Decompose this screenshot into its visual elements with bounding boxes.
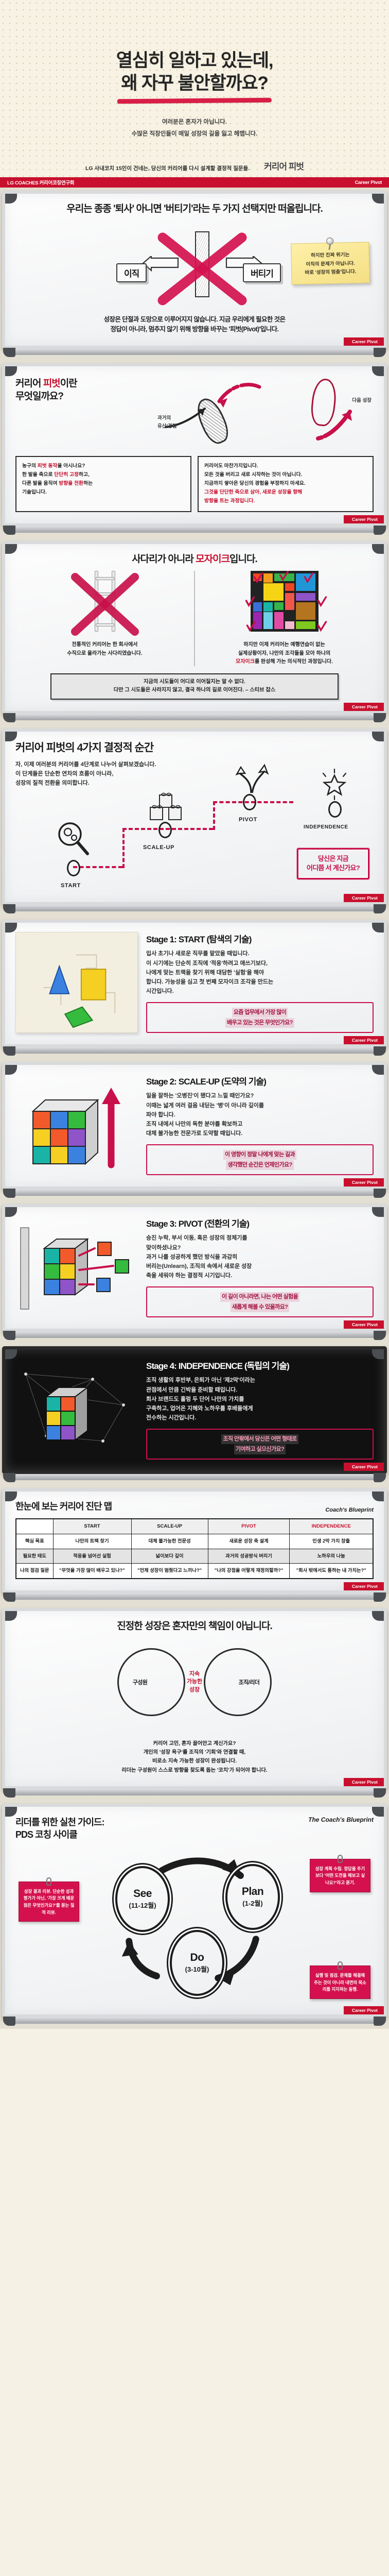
label-past-line1: 과거의 <box>157 414 171 421</box>
ring-do-label: Do <box>190 1952 204 1964</box>
stage3-line5: 축을 세워야 하는 결정적 시기입니다. <box>146 1271 374 1280</box>
board-stand <box>7 349 382 355</box>
ring-plan: Plan (1-2월) <box>225 1864 280 1930</box>
cell-attitude-independence: 노하우의 나눔 <box>290 1549 373 1564</box>
cell-attitude-start: 적응을 넘어선 실험 <box>53 1549 131 1564</box>
venn-overlap-label: 지속 가능한 성장 <box>187 1670 202 1694</box>
hero-subtitle: 여러분은 혼자가 아닙니다. 수많은 직장인들이 매일 성장의 길을 잃고 헤맵… <box>15 116 374 140</box>
row-header-question: 나의 점검 질문 <box>16 1564 53 1579</box>
table-title: 한눈에 보는 커리어 진단 맵 <box>15 1501 112 1513</box>
stage3-artwork <box>15 1216 138 1317</box>
board-stage-1: Stage 1: START (탐색의 기술) 입사 초기나 새로운 직무를 맡… <box>0 917 389 1059</box>
s3-cap-right-1: 하지만 이제 커리어는 예행연습이 없는 <box>200 641 368 649</box>
s1-foot-line1: 성장은 단절과 도망으로 이루어지지 않습니다. 지금 우리에게 필요한 것은 <box>15 315 374 325</box>
brand-name-korean: 커리어 피벗 <box>264 159 304 172</box>
stage2-body: 일을 잘하는 '오병진'이 됐다고 느낄 때인가요? 이때는 넓게 여러 걸음 … <box>146 1091 374 1138</box>
sticky-line-3: 바로 '성장의 멈춤'입니다. <box>297 268 364 278</box>
node-label-pivot: PIVOT <box>239 817 257 823</box>
stage3-line3: 과거 나를 성공하게 했던 방식을 과감히 <box>146 1252 374 1262</box>
tagline-strip: LG 사내코치 15인이 건네는, 당신의 커리어를 다시 설계할 결정적 질문… <box>0 153 389 177</box>
pds-note-do-text: 실행 및 점검. 문제를 해결해주는 것이 아니라 내면의 목소리를 지지하는 … <box>314 1973 366 1992</box>
venn-diagram: 구성원 조직/리더 지속 가능한 성장 <box>117 1643 272 1721</box>
stage1-heading: Stage 1: START (탐색의 기술) <box>146 932 374 945</box>
board-foot-right <box>374 2016 386 2026</box>
corner-brand-tag: Career Pivot <box>344 1036 384 1044</box>
ring-plan-label: Plan <box>242 1886 263 1898</box>
stage4-line2: 관점에서 만큼 긴박을 준비할 때입니다. <box>146 1385 374 1395</box>
board-foot-right <box>374 1046 386 1056</box>
venn-mid-2: 가능한 <box>187 1678 202 1686</box>
stage1-artwork <box>15 932 138 1033</box>
row-header-goal: 핵심 목표 <box>16 1534 53 1549</box>
arrow-growth-up-icon <box>315 404 361 442</box>
stage2-heading: Stage 2: SCALE-UP (도약의 기술) <box>146 1074 374 1087</box>
corner-brand-tag: Career Pivot <box>344 1778 384 1786</box>
hero-title-line2: 왜 자꾸 불안할까요? <box>121 73 268 93</box>
pds-note-plan: 성장 계획 수립. 정답을 주기보다 '어떤 도전을 해보고 싶나요?'라고 묻… <box>310 1859 370 1892</box>
lego-bricks-icon <box>145 790 184 825</box>
corner-brand-tag: Career Pivot <box>344 894 384 902</box>
stage2-line5: 대체 불가능한 전문가로 도약할 때입니다. <box>146 1129 374 1138</box>
corner-brand-tag: Career Pivot <box>344 1582 384 1590</box>
s2-box-left-line1: 농구의 피벗 동작을 아시나요? <box>22 462 185 471</box>
org-cap-1: 커리어 고민, 혼자 끌어안고 계신가요? <box>15 1739 374 1748</box>
ring-see-period: (11-12월) <box>129 1900 156 1910</box>
ring-see-label: See <box>133 1888 152 1900</box>
red-x-over-ladder-icon <box>68 573 142 636</box>
career-diagnosis-table: START SCALE-UP PIVOT INDEPENDENCE 핵심 목표 … <box>15 1518 374 1579</box>
stage4-line5: 전수하는 시간입니다. <box>146 1413 374 1422</box>
stage1-line5: 시간입니다. <box>146 987 374 996</box>
stage3-cta-box: 이 길이 아니라면, 나는 어떤 실험을 새롭게 해볼 수 있을까요? <box>146 1286 374 1317</box>
brand-red-bar: LG COACHES 커리어코칭연구회 Career Pivot <box>0 177 389 188</box>
cell-attitude-scaleup: 넓이보다 깊이 <box>131 1549 208 1564</box>
paperclip-icon <box>338 1961 343 1970</box>
s4-body: 자, 이제 여러분의 커리어를 4단계로 나누어 살펴보겠습니다. 이 단계들은… <box>15 760 185 788</box>
pds-note-see-text: 성장 결과 리뷰. 단순한 성과 평가가 아닌, '가장 크게 배운 점은 무엇… <box>24 1889 75 1915</box>
board-foot-left <box>3 904 15 913</box>
board-stand <box>7 1594 382 1600</box>
hero-sub-line2: 수많은 직장인들이 매일 성장의 길을 잃고 헤맵니다. <box>15 128 374 140</box>
board-foot-left <box>3 348 15 357</box>
fork-arrows-pivot-icon <box>234 763 271 795</box>
stamp-line2: 어디쯤 서 계신가요? <box>307 863 360 873</box>
stage3-body: 승진 누락, 부서 이동, 혹은 성장의 정체기를 맞이하셨나요? 과거 나를 … <box>146 1233 374 1280</box>
board-stage-3: Stage 3: PIVOT (전환의 기술) 승진 누락, 부서 이동, 혹은… <box>0 1201 389 1343</box>
pds-note-see: 성장 결과 리뷰. 단순한 성과 평가가 아닌, '가장 크게 배운 점은 무엇… <box>19 1882 79 1922</box>
s3-title-b: 입니다. <box>229 554 257 565</box>
cell-question-start: "무엇을 가장 많이 배우고 있나?" <box>53 1564 131 1579</box>
pds-title: 리더를 위한 실천 가이드: PDS 코칭 사이클 <box>15 1816 104 1841</box>
stage3-line4: 버리는(Unlearn), 조직의 속에서 새로운 성장 <box>146 1262 374 1271</box>
stage4-line3: 회사 브랜드도 훌렁 두 단어 나만의 가치를 <box>146 1395 374 1404</box>
arrow-pivot-back-icon <box>208 379 264 411</box>
page-title: 열심히 일하고 있는데, 왜 자꾸 불안할까요? <box>15 49 374 95</box>
org-cap-3: 비로소 지속 가능한 성장이 완성됩니다. <box>15 1757 374 1766</box>
pds-badge: The Coach's Blueprint <box>308 1816 374 1823</box>
s3-cap-left-2: 수직으로 올라가는 사다리였습니다. <box>21 650 189 658</box>
th-scaleup: SCALE-UP <box>131 1519 208 1534</box>
s2-hl-fix: 단단히 고정 <box>54 472 79 478</box>
board-foot-left <box>3 1189 15 1198</box>
corner-brand-tag: Career Pivot <box>344 1178 384 1187</box>
row-header-attitude: 필요한 태도 <box>16 1549 53 1564</box>
table-row: 필요한 태도 적응을 넘어선 실험 넓이보다 깊이 과거의 성공방식 버리기 노… <box>16 1549 373 1564</box>
s1-foot-line2: 정답이 아니라, 멈추지 않기 위해 방향을 바꾸는 '피벗(Pivot)'입니… <box>15 325 374 334</box>
shapes-exploration-icon <box>16 933 137 1032</box>
table-row: 나의 점검 질문 "무엇을 가장 많이 배우고 있나?" "언제 성장이 멈췄다… <box>16 1564 373 1579</box>
stage4-line1: 조직 생활의 후반부, 은퇴가 아닌 '제2막'이라는 <box>146 1376 374 1385</box>
corner-brand-tag: Career Pivot <box>344 703 384 711</box>
th-pivot: PIVOT <box>208 1519 290 1534</box>
stage3-cta-line2: 새롭게 해볼 수 있을까요? <box>231 1302 290 1312</box>
org-cap-2: 개인의 '성장 욕구'를 조직의 '기회'와 연결할 때, <box>15 1748 374 1757</box>
ring-see: See (11-12월) <box>115 1866 170 1932</box>
ring-plan-period: (1-2월) <box>242 1898 262 1908</box>
cell-goal-independence: 인생 2막 가치 창출 <box>290 1534 373 1549</box>
s3-quote-line1: 지금의 시도들이 어디로 이어질지는 알 수 없다. <box>58 678 331 686</box>
stage3-cta-line1: 이 길이 아니라면, 나는 어떤 실험을 <box>220 1292 299 1302</box>
org-title: 진정한 성장은 혼자만의 책임이 아닙니다. <box>15 1620 374 1633</box>
s4-body-line3: 성장의 질적 전환을 의미합니다. <box>15 778 185 788</box>
s4-question-stamp: 당신은 지금 어디쯤 서 계신가요? <box>297 848 369 880</box>
s2-box-left-line4: 기술입니다. <box>22 488 185 497</box>
hero-section: 열심히 일하고 있는데, 왜 자꾸 불안할까요? 여러분은 혼자가 아닙니다. … <box>0 0 389 153</box>
star-sparkle-icon <box>318 768 351 800</box>
s3-quote-line2: 다만 그 시도들은 사라지지 않고, 결국 하나의 길로 이어진다. – 스티브… <box>58 686 331 694</box>
cell-question-pivot: "나의 강점을 어떻게 재정의할까?" <box>208 1564 290 1579</box>
rubik-cube-arrow-icon <box>15 1074 138 1175</box>
stage2-line2: 이때는 넓게 여러 걸음 내딛는 '병'이 아니라 깊이를 <box>146 1101 374 1110</box>
path-vertical-1 <box>122 828 125 868</box>
s1-title: 우리는 종종 '퇴사' 아니면 '버티기'라는 두 가지 선택지만 떠올립니다. <box>15 203 374 216</box>
table-badge: Coach's Blueprint <box>325 1507 374 1513</box>
s3-ladder-column: 전통적인 커리어는 한 회사에서 수직으로 올라가는 사다리였습니다. <box>15 571 194 666</box>
node-pivot <box>243 794 256 810</box>
th-start: START <box>53 1519 131 1534</box>
s2-box-right-line5: 방향을 트는 과정입니다. <box>204 497 367 506</box>
stage1-cta-line1: 요즘 업무에서 가장 많이 <box>232 1008 288 1018</box>
corner-brand-tag: Career Pivot <box>344 337 384 346</box>
board-org-section: 진정한 성장은 혼자만의 책임이 아닙니다. 구성원 조직/리더 지속 가능한 … <box>0 1605 389 1801</box>
stage1-body: 입사 초기나 새로운 직무를 맡았을 때입니다. 이 시기에는 단순히 조직에 … <box>146 949 374 996</box>
pds-note-do: 실행 및 점검. 문제를 해결해주는 것이 아니라 내면의 목소리를 지지하는 … <box>310 1965 370 1999</box>
stage3-line2: 맞이하셨나요? <box>146 1243 374 1252</box>
s2-box-right-line1: 커리어도 마찬가지입니다. <box>204 462 367 471</box>
stage2-cta-line1: 이 영향이 정말 나에게 맞는 길과 <box>223 1150 296 1160</box>
board-stage-4: Stage 4: INDEPENDENCE (독립의 기술) 조직 생활의 후반… <box>0 1343 389 1485</box>
paperclip-icon <box>46 1877 51 1886</box>
s3-ladder-caption: 전통적인 커리어는 한 회사에서 수직으로 올라가는 사다리였습니다. <box>21 641 189 657</box>
s3-cap-left-1: 전통적인 커리어는 한 회사에서 <box>21 641 189 649</box>
cell-goal-pivot: 새로운 성장 축 설계 <box>208 1534 290 1549</box>
node-label-start: START <box>61 883 81 889</box>
node-start <box>67 860 80 876</box>
th-corner <box>16 1519 53 1534</box>
tagline-text: LG 사내코치 15인이 건네는, 당신의 커리어를 다시 설계할 결정적 질문… <box>85 164 250 172</box>
venn-mid-1: 지속 <box>187 1670 202 1678</box>
stage4-body: 조직 생활의 후반부, 은퇴가 아닌 '제2막'이라는 관점에서 만큼 긴박을 … <box>146 1376 374 1422</box>
board-foot-left <box>3 1592 15 1602</box>
pds-cycle-diagram: Plan (1-2월) Do (3-10월) See (11-12월) 성장 계… <box>15 1843 374 2003</box>
org-illustration: 구성원 조직/리더 지속 가능한 성장 <box>15 1639 374 1735</box>
cell-goal-scaleup: 대체 불가능한 전문성 <box>131 1534 208 1549</box>
board-stand <box>7 714 382 720</box>
stage2-cta-line2: 생각했던 순간은 언제인가요? <box>226 1160 293 1170</box>
stage4-cta-box: 조직 안팎에서 당신은 어떤 형태로 기여하고 싶으신가요? <box>146 1429 374 1460</box>
stage2-artwork <box>15 1074 138 1175</box>
title-underline-stroke <box>117 98 272 104</box>
venn-label-org: 조직/리더 <box>239 1678 260 1686</box>
pds-title-line1: 리더를 위한 실천 가이드: <box>15 1816 104 1828</box>
board-foot-left <box>3 713 15 722</box>
s3-title-highlight: 모자이크 <box>196 554 229 565</box>
board-pds-section: 리더를 위한 실천 가이드: PDS 코칭 사이클 The Coach's Bl… <box>0 1801 389 2029</box>
board-section-1: 우리는 종종 '퇴사' 아니면 '버티기'라는 두 가지 선택지만 떠올립니다.… <box>0 188 389 360</box>
board-stand <box>7 1474 382 1480</box>
node-label-scaleup: SCALE-UP <box>143 844 174 851</box>
stage4-cta-line2: 기여하고 싶으신가요? <box>234 1445 286 1454</box>
stage2-line3: 파야 합니다. <box>146 1110 374 1120</box>
s2-bl-b: 을 아시나요? <box>58 463 85 469</box>
board-foot-left <box>3 2016 15 2026</box>
s2-bl-a: 농구의 <box>22 463 38 469</box>
board-foot-right <box>374 1592 386 1602</box>
board-section-3: 사다리가 아니라 모자이크입니다. 전통적인 커리어는 한 회사에서 <box>0 538 389 725</box>
s2-box-right-line4: 그것을 단단한 축으로 삼아, 새로운 성장을 향해 <box>204 488 367 497</box>
label-past-line2: 유산/경험 <box>157 422 177 429</box>
magnifier-gears-icon <box>55 820 92 857</box>
mosaic-icon <box>251 571 319 632</box>
path-vertical-2 <box>213 801 215 830</box>
network-cube-icon <box>15 1359 138 1460</box>
s2-title-line2: 무엇일까요? <box>15 391 63 402</box>
s4-body-line2: 이 단계들은 단순한 연차의 흐름이 아니라, <box>15 769 185 778</box>
node-independence <box>328 801 342 818</box>
board-stand <box>7 2018 382 2024</box>
board-foot-left <box>3 1046 15 1056</box>
stage1-line1: 입사 초기나 새로운 직무를 맡았을 때입니다. <box>146 949 374 958</box>
venn-circle-org: 조직/리더 <box>204 1648 272 1716</box>
s2-box-right-line3: 지금까지 쌓아온 당신의 경험을 부정하지 마세요. <box>204 480 367 488</box>
s1-footer-text: 성장은 단절과 도망으로 이루어지지 않습니다. 지금 우리에게 필요한 것은 … <box>15 315 374 335</box>
stage4-line4: 구축하고, 업어온 지혜와 노하우를 후배들에게 <box>146 1404 374 1413</box>
arrow-left-icon <box>142 256 179 279</box>
path-start-to-scaleup-h <box>73 866 122 868</box>
pushpin-icon <box>326 238 333 245</box>
s4-body-line1: 자, 이제 여러분의 커리어를 4단계로 나누어 살펴보겠습니다. <box>15 760 185 769</box>
board-foot-right <box>374 713 386 722</box>
venn-label-member: 구성원 <box>133 1678 148 1686</box>
s2-box-right-line2: 모든 것을 버리고 새로 시작하는 것이 아닙니다. <box>204 471 367 480</box>
corner-brand-tag: Career Pivot <box>344 515 384 523</box>
s2-title-a: 커리어 <box>15 378 43 389</box>
org-caption: 커리어 고민, 혼자 끌어안고 계신가요? 개인의 '성장 욕구'를 조직의 '… <box>15 1739 374 1775</box>
node-label-independence: INDEPENDENCE <box>304 824 348 830</box>
s3-cap-right-2: 실제상황이자, 나만의 조각들을 모아 하나의 <box>200 650 368 658</box>
s2-bl-hl: 피벗 동작 <box>38 463 58 469</box>
cell-attitude-pivot: 과거의 성공방식 버리기 <box>208 1549 290 1564</box>
table-row: 핵심 목표 나만의 트랙 찾기 대체 불가능한 전문성 새로운 성장 축 설계 … <box>16 1534 373 1549</box>
board-section-2: 커리어 피벗이란 무엇일까요? 과거의 <box>0 360 389 537</box>
ring-do: Do (3-10월) <box>170 1930 224 1996</box>
redbar-right-label: Career Pivot <box>355 180 382 185</box>
s3-cap-right-3b: 를 완성해 가는 의식적인 과정입니다. <box>255 659 333 665</box>
stage1-line4: 합니다. 가능성을 심고 첫 번째 모자이크 조각을 만드는 <box>146 977 374 987</box>
board-stage-2: Stage 2: SCALE-UP (도약의 기술) 일을 잘하는 '오병진'이… <box>0 1059 389 1201</box>
stage3-line1: 승진 누락, 부서 이동, 혹은 성장의 정체기를 <box>146 1233 374 1243</box>
board-foot-left <box>3 1788 15 1798</box>
board-foot-left <box>3 1473 15 1482</box>
cell-goal-start: 나만의 트랙 찾기 <box>53 1534 131 1549</box>
board-stand <box>7 1789 382 1795</box>
stage1-line2: 이 시기에는 단순히 조직에 '적응'하려고 애쓰기보다, <box>146 959 374 968</box>
s2-box-career: 커리어도 마찬가지입니다. 모든 것을 버리고 새로 시작하는 것이 아닙니다.… <box>198 456 374 512</box>
journey-map: START SCALE-UP PIVOT INDEPENDENCE <box>15 790 374 891</box>
board-stand <box>7 1332 382 1338</box>
stage1-cta-box: 요즘 업무에서 가장 많이 배우고 있는 것은 무엇인가요? <box>146 1002 374 1033</box>
board-foot-right <box>374 1473 386 1482</box>
pds-title-line2: PDS 코칭 사이클 <box>15 1828 104 1841</box>
board-foot-right <box>374 1331 386 1340</box>
venn-circle-member: 구성원 <box>117 1648 185 1716</box>
s3-title: 사다리가 아니라 모자이크입니다. <box>15 553 374 566</box>
board-diagnosis-table: 한눈에 보는 커리어 진단 맵 Coach's Blueprint START … <box>0 1485 389 1605</box>
label-next-growth: 다음 성장 <box>352 396 372 403</box>
cell-question-scaleup: "언제 성장이 멈췄다고 느끼나?" <box>131 1564 208 1579</box>
cube-pivot-pieces-icon <box>15 1216 138 1317</box>
s3-quote-box: 지금의 시도들이 어디로 이어질지는 알 수 없다. 다만 그 시도들은 사라지… <box>50 673 339 700</box>
s2-title-b: 이란 <box>60 378 77 389</box>
s4-title: 커리어 피벗의 4가지 결정적 순간 <box>15 741 185 755</box>
s2-box-basketball: 농구의 피벗 동작을 아시나요? 한 발을 축으로 단단히 고정하고, 다른 발… <box>15 456 191 512</box>
stage2-line4: 조직 내에서 나만의 독한 분야를 확보하고 <box>146 1120 374 1129</box>
stage1-line3: 나에게 맞는 트랙을 찾기 위해 대담한 '실험'을 해야 <box>146 968 374 977</box>
board-foot-left <box>3 1331 15 1340</box>
board-stand <box>7 1047 382 1054</box>
board-foot-right <box>374 348 386 357</box>
board-foot-right <box>374 526 386 535</box>
paperclip-icon <box>338 1855 343 1863</box>
pds-note-plan-text: 성장 계획 수립. 정답을 주기보다 '어떤 도전을 해보고 싶나요?'라고 묻… <box>315 1866 365 1885</box>
s3-cap-right-3: 모자이크를 완성해 가는 의식적인 과정입니다. <box>200 658 368 666</box>
s2-title-highlight: 피벗 <box>43 378 60 389</box>
board-foot-right <box>374 1788 386 1798</box>
s1-illustration: 이직 버티기 하지만 진짜 위기는 이직의 문제가 아닙니다. 바로 '성장의 … <box>15 225 374 312</box>
venn-mid-3: 성장 <box>187 1686 202 1693</box>
board-stand <box>7 527 382 533</box>
s2-hl-turn: 방향을 전환 <box>59 481 83 486</box>
chip-endure: 버티기 <box>243 263 281 282</box>
stage1-cta-line2: 배우고 있는 것은 무엇인가요? <box>225 1018 294 1028</box>
s3-cap-right-hl: 모자이크 <box>236 659 255 665</box>
s2-box-left-line2: 한 발을 축으로 단단히 고정하고, <box>22 471 185 480</box>
board-stand <box>7 905 382 911</box>
board-foot-right <box>374 904 386 913</box>
corner-brand-tag: Career Pivot <box>344 1463 384 1471</box>
board-section-4: 커리어 피벗의 4가지 결정적 순간 자, 이제 여러분의 커리어를 4단계로 … <box>0 725 389 917</box>
table-header-row: START SCALE-UP PIVOT INDEPENDENCE <box>16 1519 373 1534</box>
stage4-artwork <box>15 1359 138 1460</box>
stage4-cta-line1: 조직 안팎에서 당신은 어떤 형태로 <box>221 1434 298 1444</box>
s2-title: 커리어 피벗이란 무엇일까요? <box>15 378 144 403</box>
stage2-cta-box: 이 영향이 정말 나에게 맞는 길과 생각했던 순간은 언제인가요? <box>146 1144 374 1175</box>
corner-brand-tag: Career Pivot <box>344 2006 384 2014</box>
s2-box-left-line3: 다른 발을 움직여 방향을 전환하는 <box>22 480 185 488</box>
board-stand <box>7 1190 382 1196</box>
s3-mosaic-caption: 하지만 이제 커리어는 예행연습이 없는 실제상황이자, 나만의 조각들을 모아… <box>200 641 368 666</box>
stamp-line1: 당신은 지금 <box>307 854 360 864</box>
ring-do-period: (3-10월) <box>185 1964 209 1974</box>
hero-title-line1: 열심히 일하고 있는데, <box>116 50 273 71</box>
org-cap-4: 리더는 구성원이 스스로 방향을 찾도록 돕는 '코치'가 되어야 합니다. <box>15 1766 374 1775</box>
stage3-heading: Stage 3: PIVOT (전환의 기술) <box>146 1216 374 1229</box>
corner-brand-tag: Career Pivot <box>344 1320 384 1329</box>
th-independence: INDEPENDENCE <box>290 1519 373 1534</box>
s3-mosaic-column: 하지만 이제 커리어는 예행연습이 없는 실제상황이자, 나만의 조각들을 모아… <box>194 571 374 666</box>
stage4-heading: Stage 4: INDEPENDENCE (독립의 기술) <box>146 1359 374 1371</box>
hero-sub-line1: 여러분은 혼자가 아닙니다. <box>15 116 374 128</box>
cell-question-independence: "회사 밖에서도 통하는 내 가치는?" <box>290 1564 373 1579</box>
s2-illustration: 과거의 유산/경험 다음 성장 <box>151 376 374 453</box>
sticky-note-warning: 하지만 진짜 위기는 이직의 문제가 아닙니다. 바로 '성장의 멈춤'입니다. <box>291 242 370 284</box>
chip-leave-job: 이직 <box>116 263 147 282</box>
redbar-left-label: LG COACHES 커리어코칭연구회 <box>7 179 74 186</box>
board-foot-left <box>3 526 15 535</box>
s3-title-a: 사다리가 아니라 <box>132 554 196 565</box>
board-foot-right <box>374 1189 386 1198</box>
stage2-line1: 일을 잘하는 '오병진'이 됐다고 느낄 때인가요? <box>146 1091 374 1100</box>
